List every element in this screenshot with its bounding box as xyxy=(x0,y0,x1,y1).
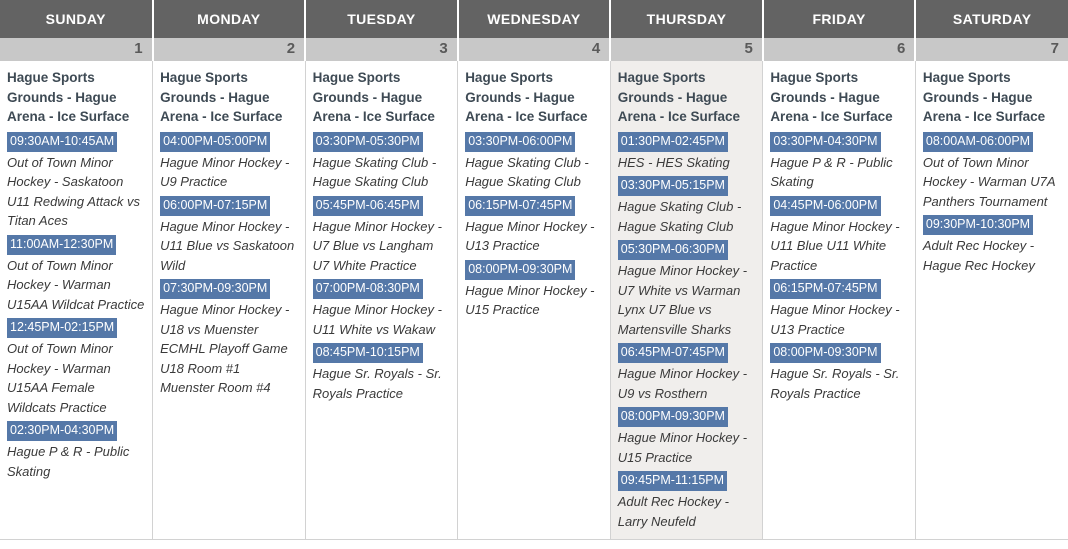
venue-title: Hague Sports Grounds - Hague Arena - Ice… xyxy=(7,68,145,127)
event-description: Hague Minor Hockey - U9 Practice xyxy=(160,153,298,192)
event-time-badge: 08:00AM-06:00PM xyxy=(923,132,1033,152)
event-time-badge: 06:15PM-07:45PM xyxy=(770,279,880,299)
day-name-header-row: SUNDAYMONDAYTUESDAYWEDNESDAYTHURSDAYFRID… xyxy=(0,0,1068,38)
event-entry[interactable]: 08:00AM-06:00PMOut of Town Minor Hockey … xyxy=(923,130,1061,212)
event-description: Out of Town Minor Hockey - Warman U15AA … xyxy=(7,339,145,417)
event-description: Hague Minor Hockey - U11 Blue vs Saskato… xyxy=(160,217,298,276)
day-cell-wednesday[interactable]: Hague Sports Grounds - Hague Arena - Ice… xyxy=(458,61,611,540)
day-cell-sunday[interactable]: Hague Sports Grounds - Hague Arena - Ice… xyxy=(0,61,153,540)
event-entry[interactable]: 02:30PM-04:30PMHague P & R - Public Skat… xyxy=(7,419,145,481)
date-number-2[interactable]: 2 xyxy=(153,38,306,61)
event-time-badge: 09:30PM-10:30PM xyxy=(923,215,1033,235)
event-description: Adult Rec Hockey - Hague Rec Hockey xyxy=(923,236,1061,275)
event-entry[interactable]: 06:15PM-07:45PMHague Minor Hockey - U13 … xyxy=(770,277,908,339)
day-header-saturday: SATURDAY xyxy=(915,0,1068,38)
event-description: Adult Rec Hockey - Larry Neufeld xyxy=(618,492,756,531)
event-entry[interactable]: 03:30PM-04:30PMHague P & R - Public Skat… xyxy=(770,130,908,192)
date-number-row: 1234567 xyxy=(0,38,1068,61)
day-cell-thursday[interactable]: Hague Sports Grounds - Hague Arena - Ice… xyxy=(610,61,763,540)
date-number-6[interactable]: 6 xyxy=(763,38,916,61)
event-description: Hague Minor Hockey - U13 Practice xyxy=(770,300,908,339)
date-number-5[interactable]: 5 xyxy=(610,38,763,61)
event-entry[interactable]: 03:30PM-05:30PMHague Skating Club - Hagu… xyxy=(313,130,451,192)
venue-title: Hague Sports Grounds - Hague Arena - Ice… xyxy=(618,68,756,127)
event-entry[interactable]: 05:45PM-06:45PMHague Minor Hockey - U7 B… xyxy=(313,194,451,276)
day-header-wednesday: WEDNESDAY xyxy=(458,0,611,38)
event-time-badge: 03:30PM-04:30PM xyxy=(770,132,880,152)
venue-title: Hague Sports Grounds - Hague Arena - Ice… xyxy=(313,68,451,127)
event-entry[interactable]: 06:15PM-07:45PMHague Minor Hockey - U13 … xyxy=(465,194,603,256)
event-description: Hague P & R - Public Skating xyxy=(7,442,145,481)
event-description: Hague Minor Hockey - U11 Blue U11 White … xyxy=(770,217,908,276)
event-description: Hague Sr. Royals - Sr. Royals Practice xyxy=(770,364,908,403)
event-description: Hague Minor Hockey - U7 Blue vs Langham … xyxy=(313,217,451,276)
event-description: Hague P & R - Public Skating xyxy=(770,153,908,192)
day-header-thursday: THURSDAY xyxy=(610,0,763,38)
event-description: HES - HES Skating xyxy=(618,153,756,173)
event-time-badge: 04:45PM-06:00PM xyxy=(770,196,880,216)
date-number-7[interactable]: 7 xyxy=(915,38,1068,61)
date-number-3[interactable]: 3 xyxy=(305,38,458,61)
event-description: Out of Town Minor Hockey - Warman U15AA … xyxy=(7,256,145,315)
event-entry[interactable]: 04:45PM-06:00PMHague Minor Hockey - U11 … xyxy=(770,194,908,276)
event-time-badge: 02:30PM-04:30PM xyxy=(7,421,117,441)
event-time-badge: 07:00PM-08:30PM xyxy=(313,279,423,299)
day-cell-tuesday[interactable]: Hague Sports Grounds - Hague Arena - Ice… xyxy=(305,61,458,540)
event-description: Hague Minor Hockey - U15 Practice xyxy=(618,428,756,467)
event-description: Hague Minor Hockey - U7 White vs Warman … xyxy=(618,261,756,339)
event-entry[interactable]: 12:45PM-02:15PMOut of Town Minor Hockey … xyxy=(7,316,145,417)
event-time-badge: 08:00PM-09:30PM xyxy=(618,407,728,427)
event-description: Out of Town Minor Hockey - Warman U7A Pa… xyxy=(923,153,1061,212)
event-entry[interactable]: 03:30PM-06:00PMHague Skating Club - Hagu… xyxy=(465,130,603,192)
day-header-monday: MONDAY xyxy=(153,0,306,38)
event-description: Hague Minor Hockey - U18 vs Muenster ECM… xyxy=(160,300,298,398)
event-time-badge: 05:30PM-06:30PM xyxy=(618,240,728,260)
event-time-badge: 05:45PM-06:45PM xyxy=(313,196,423,216)
event-time-badge: 08:45PM-10:15PM xyxy=(313,343,423,363)
event-entry[interactable]: 04:00PM-05:00PMHague Minor Hockey - U9 P… xyxy=(160,130,298,192)
event-description: Hague Minor Hockey - U15 Practice xyxy=(465,281,603,320)
event-time-badge: 06:45PM-07:45PM xyxy=(618,343,728,363)
day-content-row: Hague Sports Grounds - Hague Arena - Ice… xyxy=(0,61,1068,540)
event-time-badge: 01:30PM-02:45PM xyxy=(618,132,728,152)
event-entry[interactable]: 01:30PM-02:45PMHES - HES Skating xyxy=(618,130,756,173)
event-time-badge: 11:00AM-12:30PM xyxy=(7,235,116,255)
event-time-badge: 09:45PM-11:15PM xyxy=(618,471,727,491)
event-time-badge: 03:30PM-06:00PM xyxy=(465,132,575,152)
event-entry[interactable]: 03:30PM-05:15PMHague Skating Club - Hagu… xyxy=(618,174,756,236)
day-header-friday: FRIDAY xyxy=(763,0,916,38)
event-time-badge: 08:00PM-09:30PM xyxy=(770,343,880,363)
event-entry[interactable]: 05:30PM-06:30PMHague Minor Hockey - U7 W… xyxy=(618,238,756,339)
event-description: Out of Town Minor Hockey - Saskatoon U11… xyxy=(7,153,145,231)
venue-title: Hague Sports Grounds - Hague Arena - Ice… xyxy=(465,68,603,127)
event-time-badge: 08:00PM-09:30PM xyxy=(465,260,575,280)
event-entry[interactable]: 08:00PM-09:30PMHague Sr. Royals - Sr. Ro… xyxy=(770,341,908,403)
event-description: Hague Minor Hockey - U13 Practice xyxy=(465,217,603,256)
event-description: Hague Sr. Royals - Sr. Royals Practice xyxy=(313,364,451,403)
event-entry[interactable]: 09:30PM-10:30PMAdult Rec Hockey - Hague … xyxy=(923,213,1061,275)
event-description: Hague Minor Hockey - U11 White vs Wakaw xyxy=(313,300,451,339)
event-entry[interactable]: 07:00PM-08:30PMHague Minor Hockey - U11 … xyxy=(313,277,451,339)
event-entry[interactable]: 07:30PM-09:30PMHague Minor Hockey - U18 … xyxy=(160,277,298,398)
event-entry[interactable]: 06:00PM-07:15PMHague Minor Hockey - U11 … xyxy=(160,194,298,276)
event-description: Hague Skating Club - Hague Skating Club xyxy=(313,153,451,192)
date-number-1[interactable]: 1 xyxy=(0,38,153,61)
event-time-badge: 07:30PM-09:30PM xyxy=(160,279,270,299)
event-entry[interactable]: 09:45PM-11:15PMAdult Rec Hockey - Larry … xyxy=(618,469,756,531)
venue-title: Hague Sports Grounds - Hague Arena - Ice… xyxy=(160,68,298,127)
event-entry[interactable]: 08:00PM-09:30PMHague Minor Hockey - U15 … xyxy=(618,405,756,467)
event-entry[interactable]: 08:00PM-09:30PMHague Minor Hockey - U15 … xyxy=(465,258,603,320)
event-description: Hague Skating Club - Hague Skating Club xyxy=(618,197,756,236)
event-description: Hague Minor Hockey - U9 vs Rosthern xyxy=(618,364,756,403)
event-time-badge: 06:00PM-07:15PM xyxy=(160,196,270,216)
day-header-tuesday: TUESDAY xyxy=(305,0,458,38)
day-cell-monday[interactable]: Hague Sports Grounds - Hague Arena - Ice… xyxy=(153,61,306,540)
day-cell-saturday[interactable]: Hague Sports Grounds - Hague Arena - Ice… xyxy=(915,61,1068,540)
event-time-badge: 09:30AM-10:45AM xyxy=(7,132,117,152)
event-entry[interactable]: 08:45PM-10:15PMHague Sr. Royals - Sr. Ro… xyxy=(313,341,451,403)
event-entry[interactable]: 11:00AM-12:30PMOut of Town Minor Hockey … xyxy=(7,233,145,315)
event-time-badge: 03:30PM-05:30PM xyxy=(313,132,423,152)
date-number-4[interactable]: 4 xyxy=(458,38,611,61)
day-header-sunday: SUNDAY xyxy=(0,0,153,38)
event-time-badge: 06:15PM-07:45PM xyxy=(465,196,575,216)
event-time-badge: 04:00PM-05:00PM xyxy=(160,132,270,152)
day-cell-friday[interactable]: Hague Sports Grounds - Hague Arena - Ice… xyxy=(763,61,916,540)
event-time-badge: 12:45PM-02:15PM xyxy=(7,318,117,338)
event-description: Hague Skating Club - Hague Skating Club xyxy=(465,153,603,192)
event-entry[interactable]: 09:30AM-10:45AMOut of Town Minor Hockey … xyxy=(7,130,145,231)
weekly-schedule-calendar: SUNDAYMONDAYTUESDAYWEDNESDAYTHURSDAYFRID… xyxy=(0,0,1068,540)
venue-title: Hague Sports Grounds - Hague Arena - Ice… xyxy=(770,68,908,127)
venue-title: Hague Sports Grounds - Hague Arena - Ice… xyxy=(923,68,1061,127)
event-time-badge: 03:30PM-05:15PM xyxy=(618,176,728,196)
event-entry[interactable]: 06:45PM-07:45PMHague Minor Hockey - U9 v… xyxy=(618,341,756,403)
